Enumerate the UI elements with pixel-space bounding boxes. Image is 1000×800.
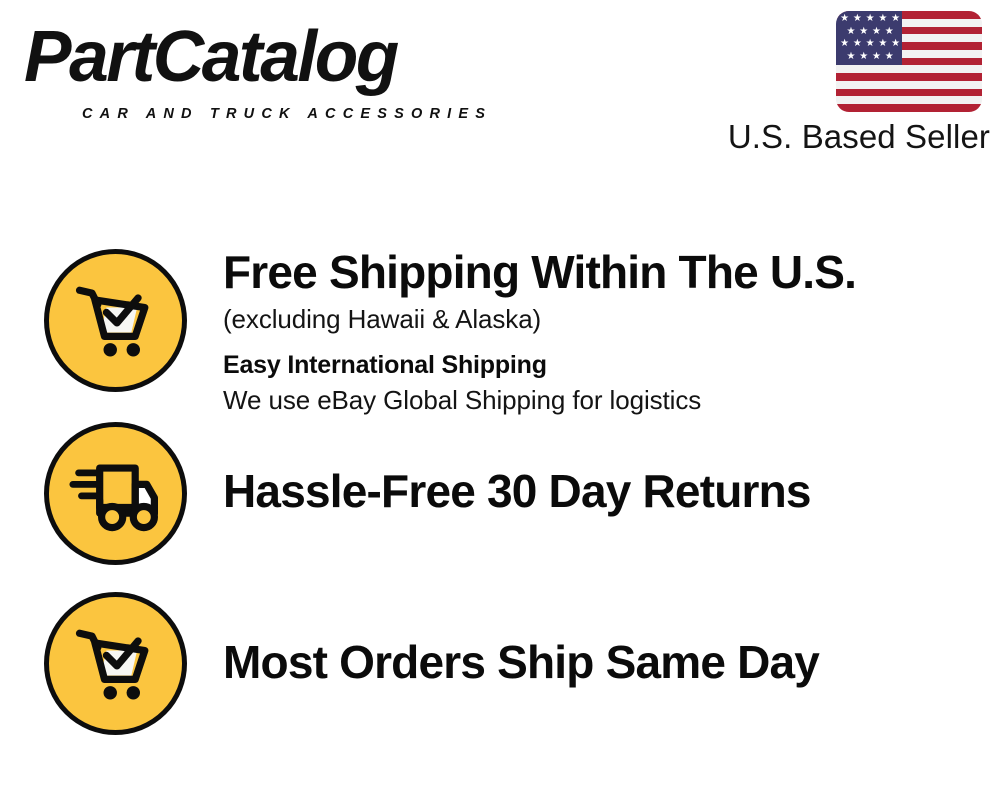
feature-sub-detail: We use eBay Global Shipping for logistic… <box>223 383 980 417</box>
feature-text-block: Most Orders Ship Same Day <box>223 636 980 688</box>
brand-tagline: CAR AND TRUCK ACCESSORIES <box>82 106 492 122</box>
us-based-seller-badge: ★ ★ ★ ★ ★ ★ ★ ★ ★ ★ ★ ★ ★ ★ ★ ★ ★ ★ <box>836 11 982 112</box>
feature-headline: Free Shipping Within The U.S. <box>223 246 980 298</box>
flag-stripe <box>836 81 982 89</box>
brand-logo: PartCatalog CAR AND TRUCK ACCESSORIES <box>24 18 494 118</box>
feature-text-block: Free Shipping Within The U.S. (excluding… <box>223 246 980 417</box>
feature-sub-note: (excluding Hawaii & Alaska) <box>223 302 980 336</box>
feature-text-block: Hassle-Free 30 Day Returns <box>223 465 980 517</box>
feature-headline: Most Orders Ship Same Day <box>223 636 980 688</box>
feature-row: Hassle-Free 30 Day Returns <box>0 420 1000 570</box>
feature-row: Free Shipping Within The U.S. (excluding… <box>0 246 1000 406</box>
us-based-seller-label: U.S. Based Seller <box>722 119 990 155</box>
flag-canton: ★ ★ ★ ★ ★ ★ ★ ★ ★ ★ ★ ★ ★ ★ ★ ★ ★ ★ <box>836 11 902 65</box>
delivery-truck-icon <box>44 422 187 565</box>
promo-banner: PartCatalog CAR AND TRUCK ACCESSORIES ★ … <box>0 0 1000 800</box>
flag-stripe <box>836 104 982 112</box>
flag-stripe <box>836 65 982 73</box>
feature-headline: Hassle-Free 30 Day Returns <box>223 465 980 517</box>
brand-wordmark: PartCatalog <box>24 18 397 96</box>
us-flag-icon: ★ ★ ★ ★ ★ ★ ★ ★ ★ ★ ★ ★ ★ ★ ★ ★ ★ ★ <box>836 11 982 112</box>
shopping-cart-check-icon <box>44 249 187 392</box>
shopping-cart-check-icon <box>44 592 187 735</box>
flag-stripe <box>836 89 982 97</box>
flag-stripe <box>836 73 982 81</box>
feature-sub-bold: Easy International Shipping <box>223 348 980 382</box>
flag-stripe <box>836 96 982 104</box>
feature-row: Most Orders Ship Same Day <box>0 590 1000 742</box>
